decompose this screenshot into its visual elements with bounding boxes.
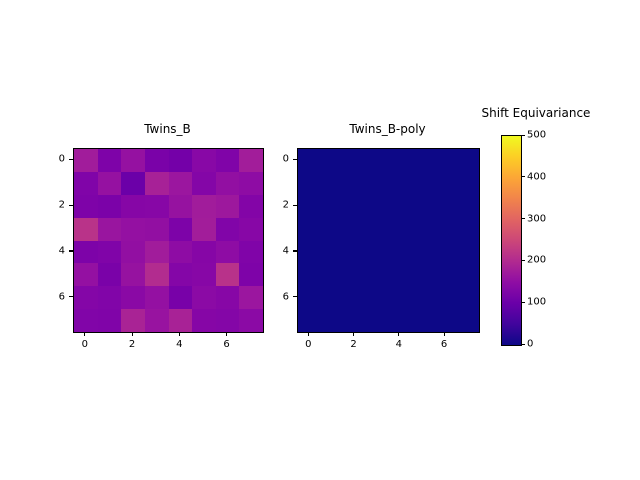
- x-tick-label: 0: [82, 339, 88, 350]
- colorbar-tick-mark: [521, 260, 525, 261]
- matplotlib-figure: Twins_B Twins_B-poly Shift Equivariance …: [0, 0, 640, 480]
- y-tick-mark: [69, 159, 73, 160]
- y-tick-mark: [69, 296, 73, 297]
- y-tick-label: 4: [39, 245, 65, 256]
- x-tick-mark: [179, 332, 180, 336]
- x-tick-mark: [353, 332, 354, 336]
- x-tick-mark: [84, 332, 85, 336]
- x-tick-label: 6: [223, 339, 229, 350]
- x-tick-label: 4: [176, 339, 182, 350]
- colorbar-tick-label: 300: [527, 213, 546, 224]
- y-tick-label: 2: [263, 200, 289, 211]
- colorbar-tick-mark: [521, 302, 525, 303]
- x-tick-mark: [132, 332, 133, 336]
- colorbar-tick-mark: [521, 218, 525, 219]
- colorbar-tick-mark: [521, 135, 525, 136]
- y-tick-label: 0: [39, 154, 65, 165]
- y-tick-mark: [293, 205, 297, 206]
- x-tick-label: 2: [129, 339, 135, 350]
- y-tick-mark: [293, 159, 297, 160]
- x-tick-mark: [444, 332, 445, 336]
- x-tick-mark: [226, 332, 227, 336]
- y-tick-label: 0: [263, 154, 289, 165]
- y-tick-mark: [69, 205, 73, 206]
- colorbar-tick-label: 500: [527, 130, 546, 141]
- x-tick-label: 4: [396, 339, 402, 350]
- y-tick-label: 6: [263, 291, 289, 302]
- x-tick-label: 2: [350, 339, 356, 350]
- x-tick-mark: [398, 332, 399, 336]
- y-tick-label: 6: [39, 291, 65, 302]
- x-tick-mark: [308, 332, 309, 336]
- colorbar-tick-label: 400: [527, 171, 546, 182]
- colorbar-tick-label: 200: [527, 255, 546, 266]
- colorbar-tick-mark: [521, 176, 525, 177]
- y-tick-mark: [293, 250, 297, 251]
- y-tick-label: 4: [263, 245, 289, 256]
- axis-ticks-layer: 02460246024602465004003002001000: [0, 0, 640, 480]
- x-tick-label: 6: [441, 339, 447, 350]
- y-tick-label: 2: [39, 200, 65, 211]
- y-tick-mark: [293, 296, 297, 297]
- x-tick-label: 0: [305, 339, 311, 350]
- colorbar-tick-label: 0: [527, 339, 533, 350]
- y-tick-mark: [69, 250, 73, 251]
- colorbar-tick-mark: [521, 344, 525, 345]
- colorbar-tick-label: 100: [527, 297, 546, 308]
